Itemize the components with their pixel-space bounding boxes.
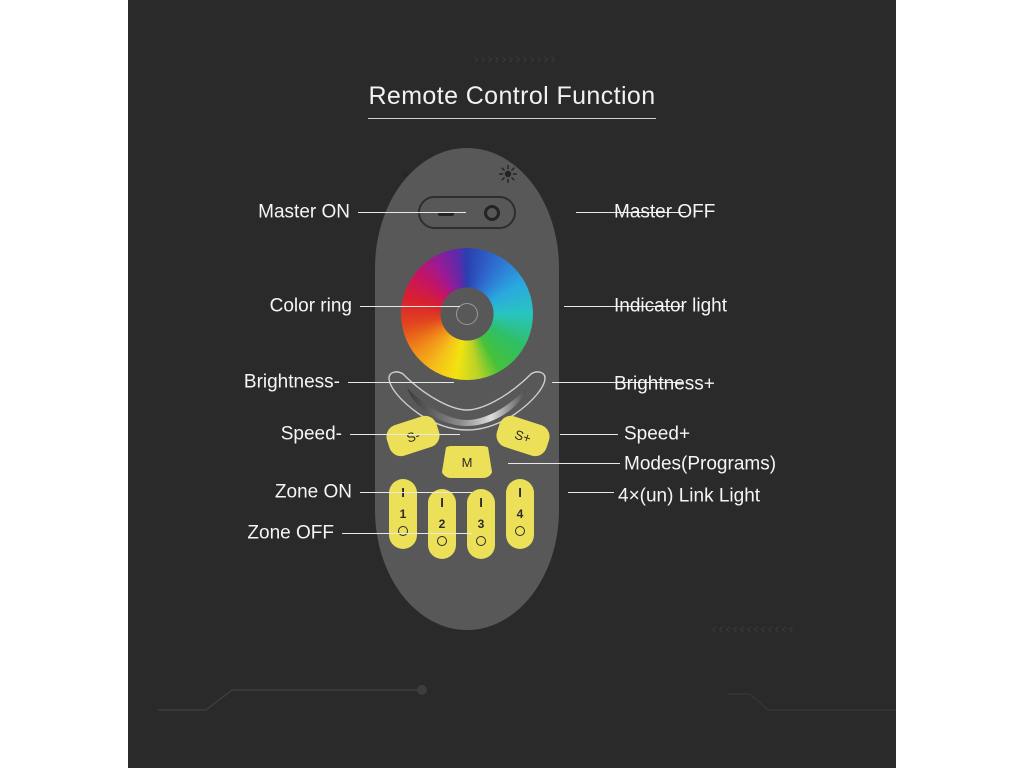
callout-master-on: Master ON bbox=[128, 203, 350, 222]
leader-line-link-light bbox=[568, 492, 614, 493]
callout-brightness-minus: Brightness- bbox=[128, 373, 340, 392]
zone-button-3[interactable]: I 3 bbox=[467, 489, 495, 559]
callout-link-light: 4×(un) Link Light bbox=[618, 487, 760, 506]
callout-speed-minus: Speed- bbox=[128, 425, 342, 444]
callout-zone-on: Zone ON bbox=[128, 483, 352, 502]
zone-off-icon[interactable] bbox=[437, 536, 447, 546]
leader-line-modes bbox=[508, 463, 620, 464]
sun-burst-icon bbox=[499, 165, 517, 183]
remote-control-body: S- M S+ I 1 I 2 I 3 I 4 bbox=[375, 148, 559, 630]
screenshot-canvas: ›››››››››››› Remote Control Function bbox=[0, 0, 1024, 768]
callout-brightness-plus: Brightness+ bbox=[614, 375, 715, 394]
page-title-wrapper: Remote Control Function bbox=[128, 82, 896, 119]
leader-line-zone-off bbox=[342, 533, 472, 534]
leader-line-brightness-minus bbox=[348, 382, 454, 383]
callout-color-ring: Color ring bbox=[128, 297, 352, 316]
circuit-trace-decoration bbox=[128, 560, 896, 768]
small-dot-icon bbox=[403, 172, 408, 177]
leader-line-color-ring bbox=[360, 306, 460, 307]
callout-indicator-light: Indicator light bbox=[614, 297, 727, 316]
zone-on-label[interactable]: I bbox=[428, 496, 456, 509]
zone-number: 4 bbox=[506, 508, 534, 520]
callout-modes: Modes(Programs) bbox=[624, 455, 776, 474]
modes-button[interactable]: M bbox=[441, 446, 493, 478]
zone-off-icon[interactable] bbox=[398, 526, 408, 536]
color-ring[interactable] bbox=[401, 248, 533, 380]
callout-zone-off: Zone OFF bbox=[128, 524, 334, 543]
zone-number: 3 bbox=[467, 518, 495, 530]
leader-line-speed-minus bbox=[350, 434, 460, 435]
master-off-icon[interactable] bbox=[484, 205, 500, 221]
zone-off-icon[interactable] bbox=[476, 536, 486, 546]
callout-master-off: Master OFF bbox=[614, 203, 715, 222]
zone-number: 2 bbox=[428, 518, 456, 530]
leader-line-zone-on bbox=[360, 492, 472, 493]
zone-button-2[interactable]: I 2 bbox=[428, 489, 456, 559]
zone-off-icon[interactable] bbox=[515, 526, 525, 536]
leader-line-master-on bbox=[358, 212, 466, 213]
zone-on-label[interactable]: I bbox=[467, 496, 495, 509]
zone-button-4[interactable]: I 4 bbox=[506, 479, 534, 549]
dark-panel: ›››››››››››› Remote Control Function bbox=[128, 0, 896, 768]
callout-speed-plus: Speed+ bbox=[624, 425, 690, 444]
zone-button-1[interactable]: I 1 bbox=[389, 479, 417, 549]
leader-line-speed-plus bbox=[560, 434, 618, 435]
zone-number: 1 bbox=[389, 508, 417, 520]
page-title: Remote Control Function bbox=[368, 82, 655, 119]
chevron-right-decoration: ›››››››››››› bbox=[473, 52, 557, 67]
zone-on-label[interactable]: I bbox=[506, 486, 534, 499]
